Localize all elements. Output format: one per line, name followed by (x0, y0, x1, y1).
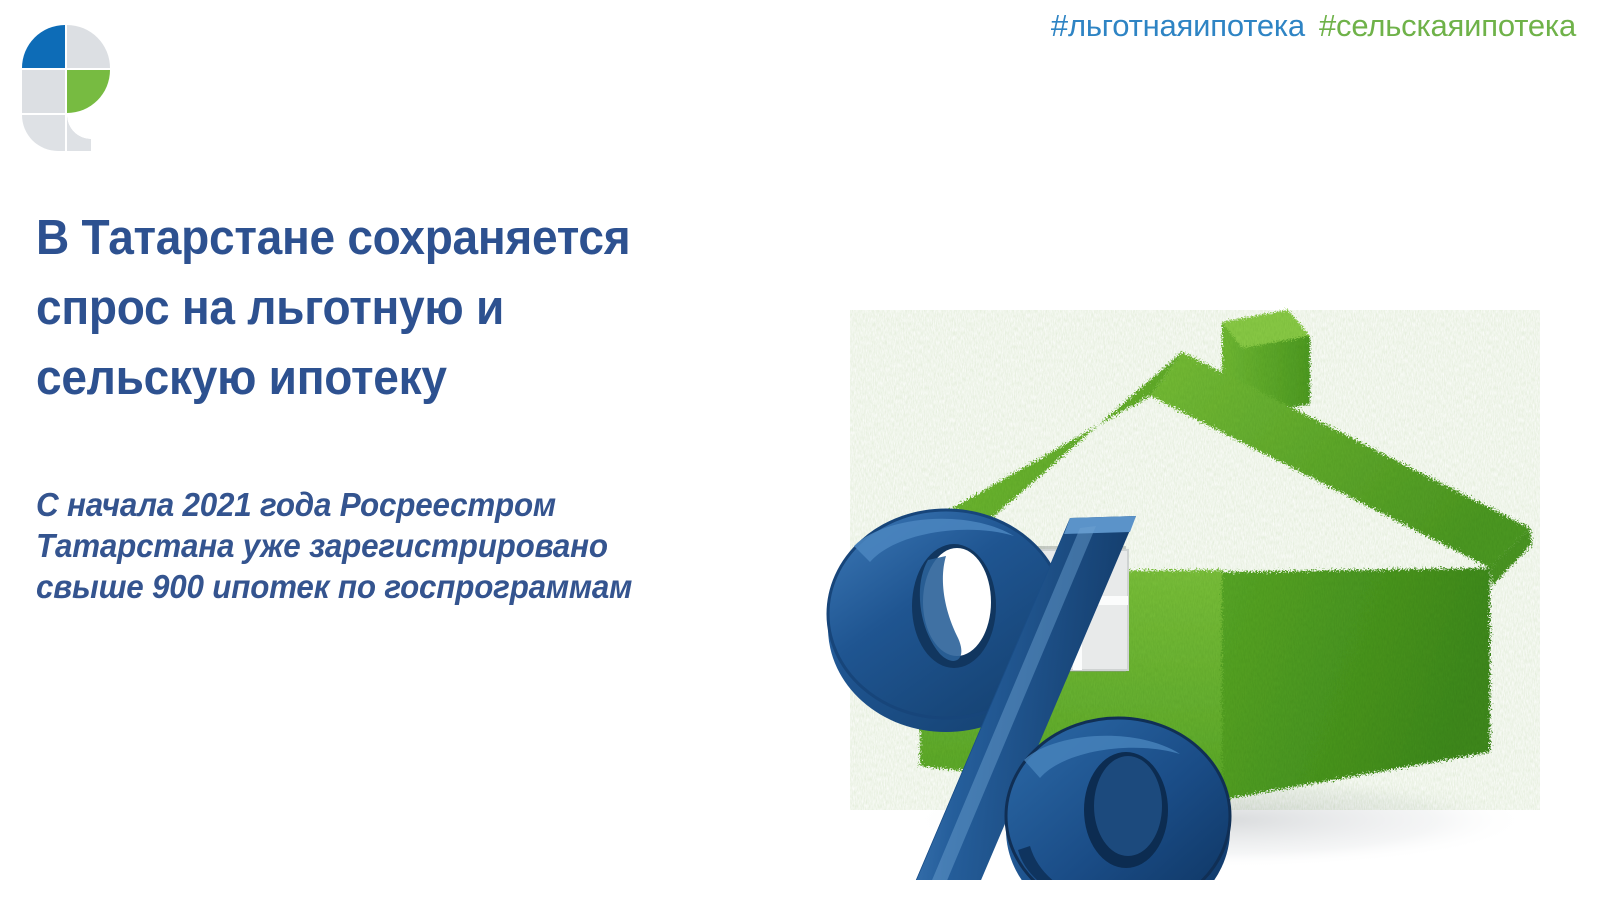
page-title: В Татарстане сохраняется спрос на льготн… (36, 203, 863, 413)
rosreestr-logo (22, 25, 110, 151)
hashtag-lgotnaya-ipoteka[interactable]: #льготнаяипотека (1051, 8, 1305, 43)
subtitle-line-3: свыше 900 ипотек по госпрограммам (36, 566, 815, 607)
hashtag-row: #льготнаяипотека#сельскаяипотека (1051, 8, 1576, 44)
subtitle: С начала 2021 года Росреестром Татарстан… (36, 484, 815, 607)
headline-line-1: В Татарстане сохраняется (36, 203, 863, 273)
logo-quadrant-bottom-curve-gray (67, 115, 91, 151)
subtitle-line-1: С начала 2021 года Росреестром (36, 484, 815, 525)
grass-house-illustration (790, 300, 1580, 880)
logo-quadrant-top-right-gray (67, 25, 110, 68)
headline-line-3: сельскую ипотеку (36, 343, 863, 413)
logo-quadrant-mid-left-gray (22, 70, 65, 113)
logo-quadrant-bottom-left-gray (22, 115, 65, 151)
subtitle-line-2: Татарстана уже зарегистрировано (36, 525, 815, 566)
logo-quadrant-mid-right-green (67, 70, 110, 113)
logo-quadrant-top-left-blue (22, 25, 65, 68)
headline-line-2: спрос на льготную и (36, 273, 863, 343)
poster-canvas: #льготнаяипотека#сельскаяипотека В Татар… (0, 0, 1600, 900)
hashtag-selskaya-ipoteka[interactable]: #сельскаяипотека (1319, 8, 1576, 43)
